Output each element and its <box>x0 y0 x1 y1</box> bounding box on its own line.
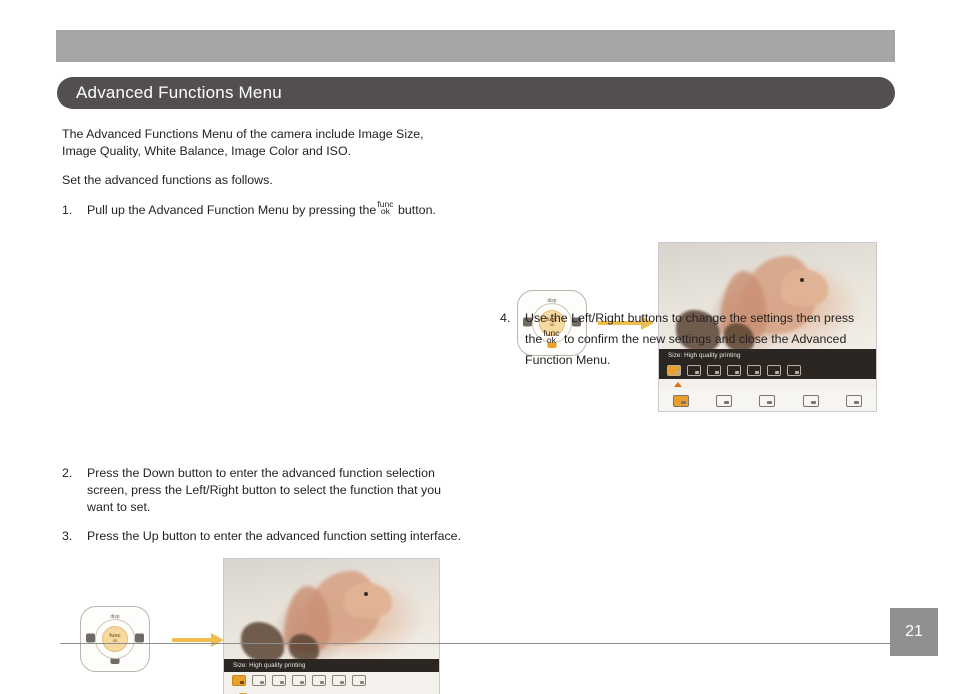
list-number: 4. <box>500 308 519 329</box>
left-column: The Advanced Functions Menu of the camer… <box>62 126 462 221</box>
left-column-lower: 2.Press the Down button to enter the adv… <box>62 465 462 545</box>
lcd-tab-row <box>659 389 876 412</box>
ok-label: ok <box>377 208 393 216</box>
func-ok-button-glyph: funcok <box>543 330 559 345</box>
setting-icon <box>332 675 346 686</box>
footer-divider <box>60 643 893 644</box>
list-item: 1.Pull up the Advanced Function Menu by … <box>62 200 462 221</box>
setting-icon <box>232 675 246 686</box>
setting-icon <box>292 675 306 686</box>
step-text: Press the Down button to enter the advan… <box>87 466 441 514</box>
manual-page: Advanced Functions Menu The Advanced Fun… <box>0 0 954 694</box>
page-title: Advanced Functions Menu <box>57 83 282 103</box>
lcd-preview-photo <box>224 559 439 661</box>
setting-icon <box>352 675 366 686</box>
flow-arrow-icon <box>172 634 224 646</box>
lcd-caption: Size: High quality printing <box>224 659 439 672</box>
lcd-setting-icon-row <box>224 672 439 689</box>
lcd-caret-row <box>659 379 876 389</box>
section-title-bar: Advanced Functions Menu <box>57 77 895 109</box>
tab-icon <box>759 395 775 407</box>
step-text-before: Pull up the Advanced Function Menu by pr… <box>87 203 376 217</box>
tab-icon <box>716 395 732 407</box>
tab-icon <box>673 395 689 407</box>
figure-step-one: disp func ok Size: High quali <box>62 278 442 446</box>
list-number: 3. <box>62 528 81 545</box>
right-column: 4.Use the Left/Right buttons to change t… <box>500 308 900 371</box>
ok-label: ok <box>543 337 559 345</box>
step-text-after: to confirm the new settings and close th… <box>525 332 846 367</box>
dpad-control: disp func ok <box>80 606 150 672</box>
step-text: Press the Up button to enter the advance… <box>87 529 461 543</box>
list-item: 4.Use the Left/Right buttons to change t… <box>500 308 870 371</box>
dpad-center-func-ok-button: func ok <box>102 626 128 652</box>
intro-paragraph: The Advanced Functions Menu of the camer… <box>62 126 442 160</box>
header-decorative-bar <box>56 30 895 62</box>
dpad-center-ok-label: ok <box>112 639 117 645</box>
func-ok-button-glyph: funcok <box>377 201 393 216</box>
tab-icon <box>803 395 819 407</box>
list-item: 3.Press the Up button to enter the advan… <box>62 528 462 545</box>
list-number: 2. <box>62 465 81 482</box>
list-number: 1. <box>62 200 81 221</box>
lead-paragraph: Set the advanced functions as follows. <box>62 172 440 189</box>
tab-icon <box>846 395 862 407</box>
setting-icon <box>272 675 286 686</box>
caret-up-icon <box>674 382 682 387</box>
figure-step-four: disp func ok Size: High quality printin <box>500 120 890 295</box>
list-item: 2.Press the Down button to enter the adv… <box>62 465 462 516</box>
lcd-screen: Size: High quality printing <box>223 558 440 694</box>
setting-icon <box>252 675 266 686</box>
lcd-caret-row <box>224 689 439 694</box>
setting-icon <box>312 675 326 686</box>
step-text-after: button. <box>398 203 436 217</box>
page-number-badge: 21 <box>890 608 938 656</box>
